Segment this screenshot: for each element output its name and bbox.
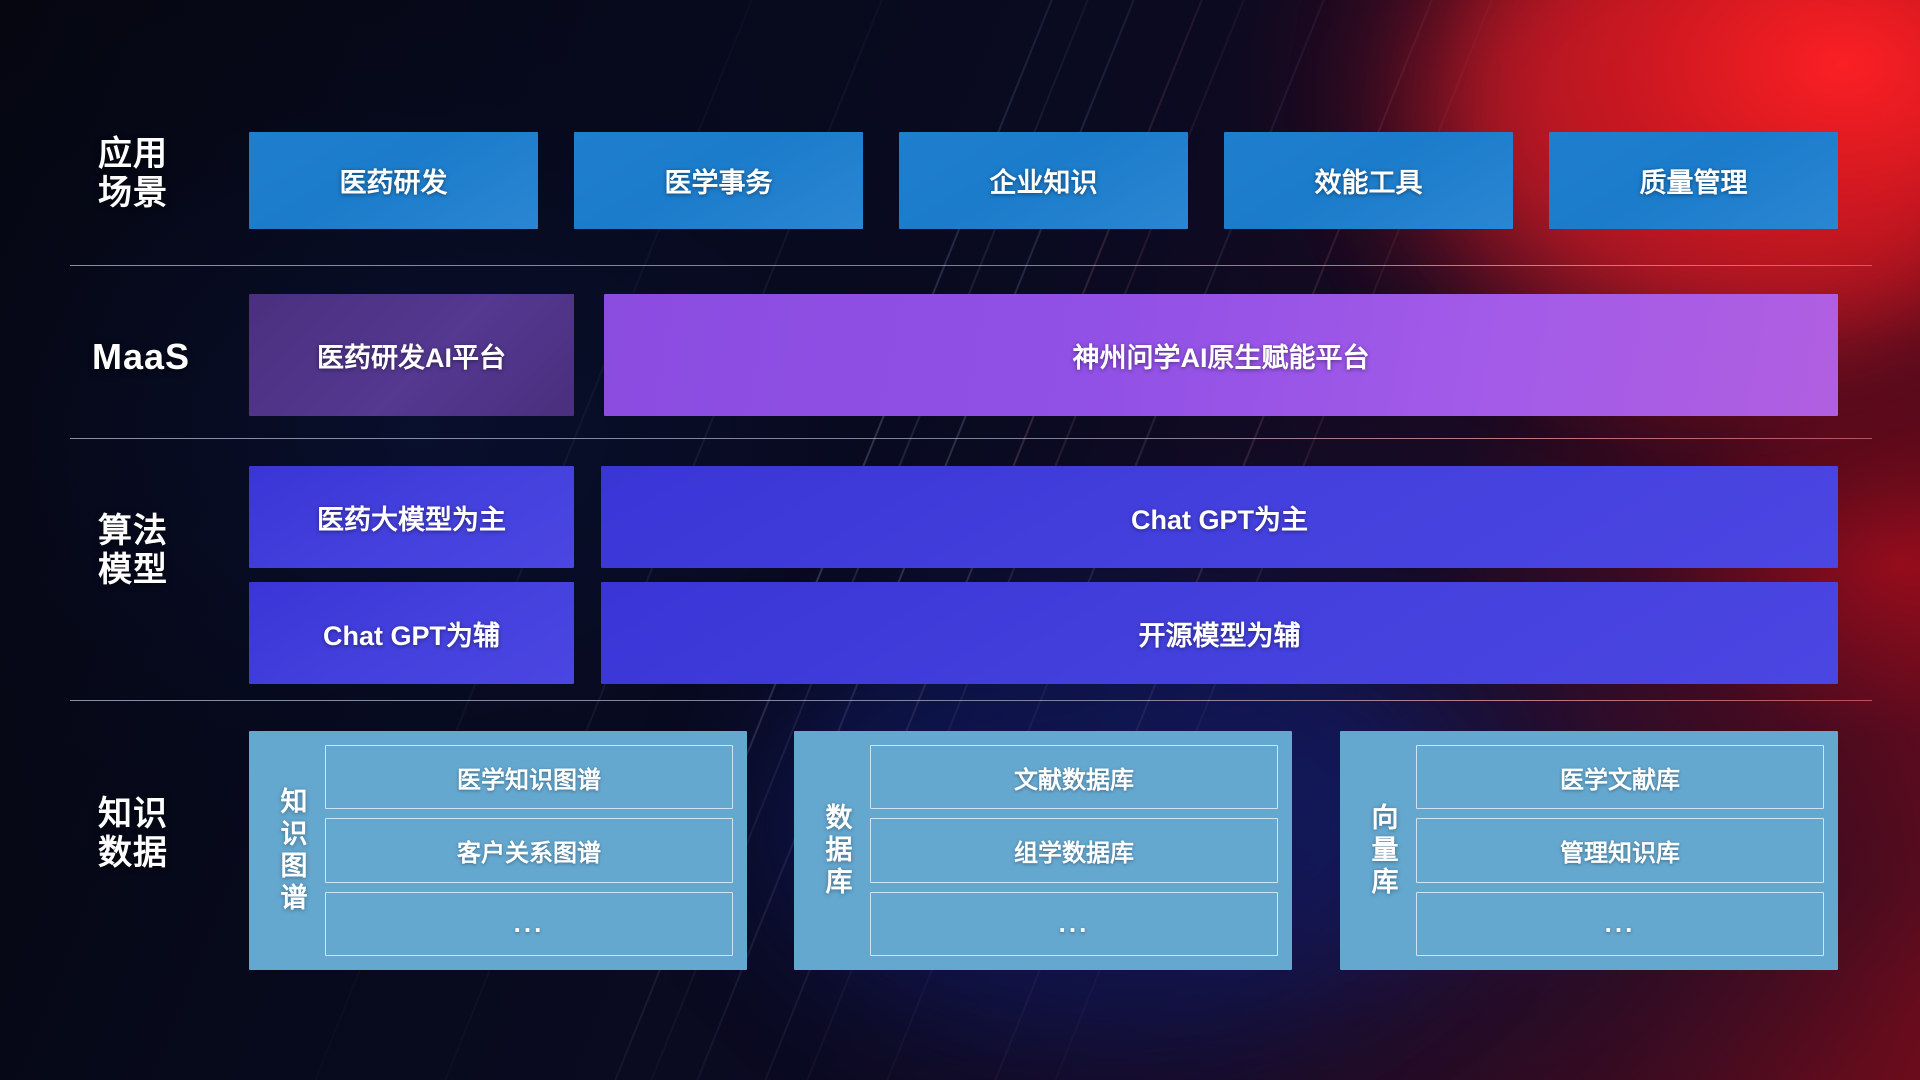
row-label-maas: MaaS	[92, 336, 252, 378]
algo-box-pharma-main-label: 医药大模型为主	[317, 498, 506, 537]
knowledge-item-vector-3[interactable]: ...	[1416, 892, 1824, 956]
knowledge-group-vector[interactable]: 向量库 医学文献库 管理知识库 ...	[1340, 731, 1838, 970]
knowledge-group-database[interactable]: 数据库 文献数据库 组学数据库 ...	[794, 731, 1292, 970]
knowledge-item-vector-1[interactable]: 医学文献库	[1416, 745, 1824, 809]
knowledge-item-database-1[interactable]: 文献数据库	[870, 745, 1278, 809]
knowledge-item-database-3[interactable]: ...	[870, 892, 1278, 956]
divider-maas-algorithm	[70, 438, 1872, 439]
algo-box-opensource-aux-label: 开源模型为辅	[1139, 614, 1301, 653]
row-label-maas-line1: MaaS	[92, 336, 252, 378]
maas-box-platform-shenzhou[interactable]: 神州问学AI原生赋能平台	[604, 294, 1838, 416]
row-label-knowledge-line1: 知识	[98, 795, 238, 834]
knowledge-item-vector-2[interactable]: 管理知识库	[1416, 818, 1824, 882]
algo-box-chatgpt-main[interactable]: Chat GPT为主	[601, 466, 1838, 568]
knowledge-group-database-title: 数据库	[804, 745, 870, 956]
app-box-5-label: 质量管理	[1640, 161, 1748, 200]
divider-algorithm-knowledge	[70, 700, 1872, 701]
algo-box-chatgpt-aux-label: Chat GPT为辅	[323, 614, 500, 653]
algo-box-pharma-main[interactable]: 医药大模型为主	[249, 466, 574, 568]
maas-box-platform-rd-label: 医药研发AI平台	[317, 336, 506, 375]
app-box-4-label: 效能工具	[1315, 161, 1423, 200]
app-box-2[interactable]: 医学事务	[574, 132, 863, 229]
divider-application-maas	[70, 265, 1872, 266]
knowledge-item-database-2[interactable]: 组学数据库	[870, 818, 1278, 882]
app-box-1[interactable]: 医药研发	[249, 132, 538, 229]
row-label-algorithm-line1: 算法	[98, 512, 228, 551]
app-box-3-label: 企业知识	[990, 161, 1098, 200]
algo-box-opensource-aux[interactable]: 开源模型为辅	[601, 582, 1838, 684]
maas-box-platform-shenzhou-label: 神州问学AI原生赋能平台	[1073, 336, 1370, 375]
knowledge-group-graph-items: 医学知识图谱 客户关系图谱 ...	[325, 745, 733, 956]
app-box-5[interactable]: 质量管理	[1549, 132, 1838, 229]
knowledge-group-graph-title: 知识图谱	[259, 745, 325, 956]
app-box-4[interactable]: 效能工具	[1224, 132, 1513, 229]
knowledge-group-graph[interactable]: 知识图谱 医学知识图谱 客户关系图谱 ...	[249, 731, 747, 970]
algo-box-chatgpt-main-label: Chat GPT为主	[1131, 498, 1308, 537]
row-label-application: 应用 场景	[98, 135, 228, 214]
row-label-knowledge: 知识 数据	[98, 795, 238, 874]
algo-box-chatgpt-aux[interactable]: Chat GPT为辅	[249, 582, 574, 684]
row-label-application-line2: 场景	[98, 174, 228, 213]
maas-box-platform-rd[interactable]: 医药研发AI平台	[249, 294, 574, 416]
row-label-application-line1: 应用	[98, 135, 228, 174]
diagram-canvas: 应用 场景 医药研发 医学事务 企业知识 效能工具 质量管理 MaaS 医药研发…	[0, 0, 1920, 1080]
knowledge-item-graph-1[interactable]: 医学知识图谱	[325, 745, 733, 809]
knowledge-item-graph-3[interactable]: ...	[325, 892, 733, 956]
row-label-algorithm-line2: 模型	[98, 551, 228, 590]
knowledge-group-vector-items: 医学文献库 管理知识库 ...	[1416, 745, 1824, 956]
app-box-2-label: 医学事务	[665, 161, 773, 200]
knowledge-group-vector-title: 向量库	[1350, 745, 1416, 956]
row-label-knowledge-line2: 数据	[98, 834, 238, 873]
app-box-1-label: 医药研发	[340, 161, 448, 200]
row-label-algorithm: 算法 模型	[98, 512, 228, 591]
knowledge-item-graph-2[interactable]: 客户关系图谱	[325, 818, 733, 882]
app-box-3[interactable]: 企业知识	[899, 132, 1188, 229]
knowledge-group-database-items: 文献数据库 组学数据库 ...	[870, 745, 1278, 956]
